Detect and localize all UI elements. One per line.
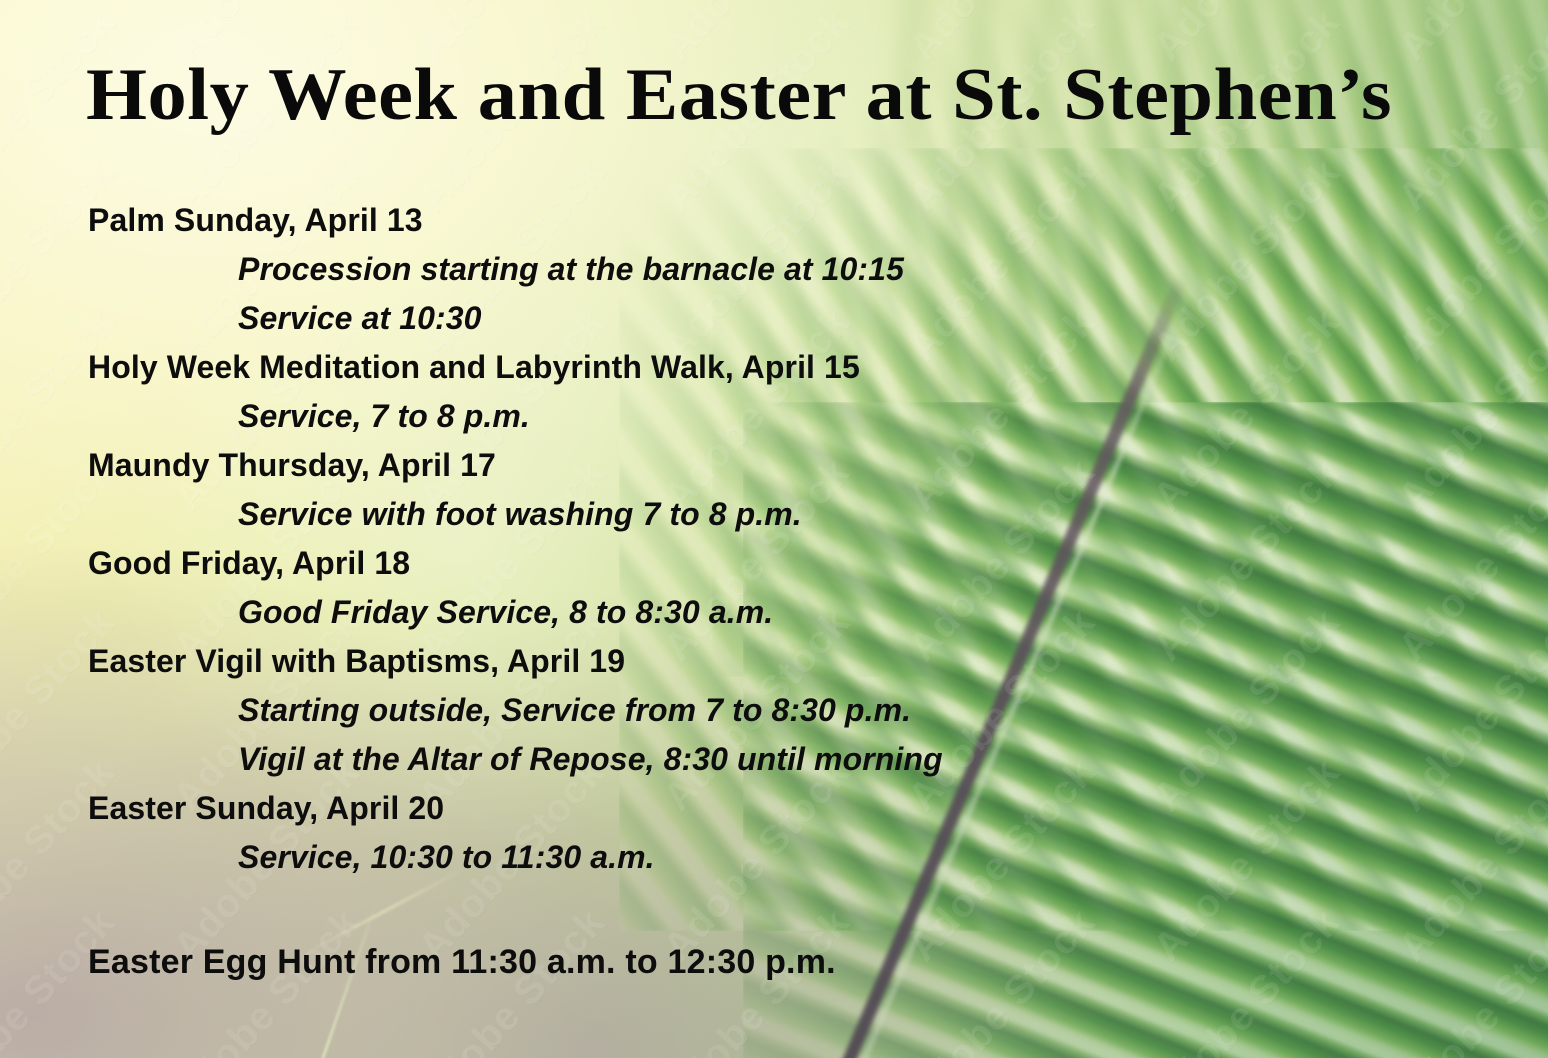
schedule-service-detail: Service at 10:30 xyxy=(0,294,1548,343)
schedule-day-heading: Maundy Thursday, April 17 xyxy=(0,441,1548,490)
easter-egg-hunt-note: Easter Egg Hunt from 11:30 a.m. to 12:30… xyxy=(88,940,836,984)
page-title: Holy Week and Easter at St. Stephen’s xyxy=(86,58,1392,132)
schedule-day-heading: Good Friday, April 18 xyxy=(0,539,1548,588)
schedule-service-detail: Service, 10:30 to 11:30 a.m. xyxy=(0,833,1548,882)
schedule-service-detail: Service with foot washing 7 to 8 p.m. xyxy=(0,490,1548,539)
schedule-service-detail: Service, 7 to 8 p.m. xyxy=(0,392,1548,441)
schedule-day-heading: Holy Week Meditation and Labyrinth Walk,… xyxy=(0,343,1548,392)
service-schedule-list: Palm Sunday, April 13Procession starting… xyxy=(0,196,1548,882)
schedule-service-detail: Good Friday Service, 8 to 8:30 a.m. xyxy=(0,588,1548,637)
holy-week-poster: Adobe StockAdobe StockAdobe StockAdobe S… xyxy=(0,0,1548,1058)
schedule-service-detail: Procession starting at the barnacle at 1… xyxy=(0,245,1548,294)
schedule-day-heading: Easter Vigil with Baptisms, April 19 xyxy=(0,637,1548,686)
poster-content: Holy Week and Easter at St. Stephen’s Pa… xyxy=(0,0,1548,1058)
schedule-day-heading: Easter Sunday, April 20 xyxy=(0,784,1548,833)
schedule-service-detail: Starting outside, Service from 7 to 8:30… xyxy=(0,686,1548,735)
schedule-day-heading: Palm Sunday, April 13 xyxy=(0,196,1548,245)
schedule-service-detail: Vigil at the Altar of Repose, 8:30 until… xyxy=(0,735,1548,784)
